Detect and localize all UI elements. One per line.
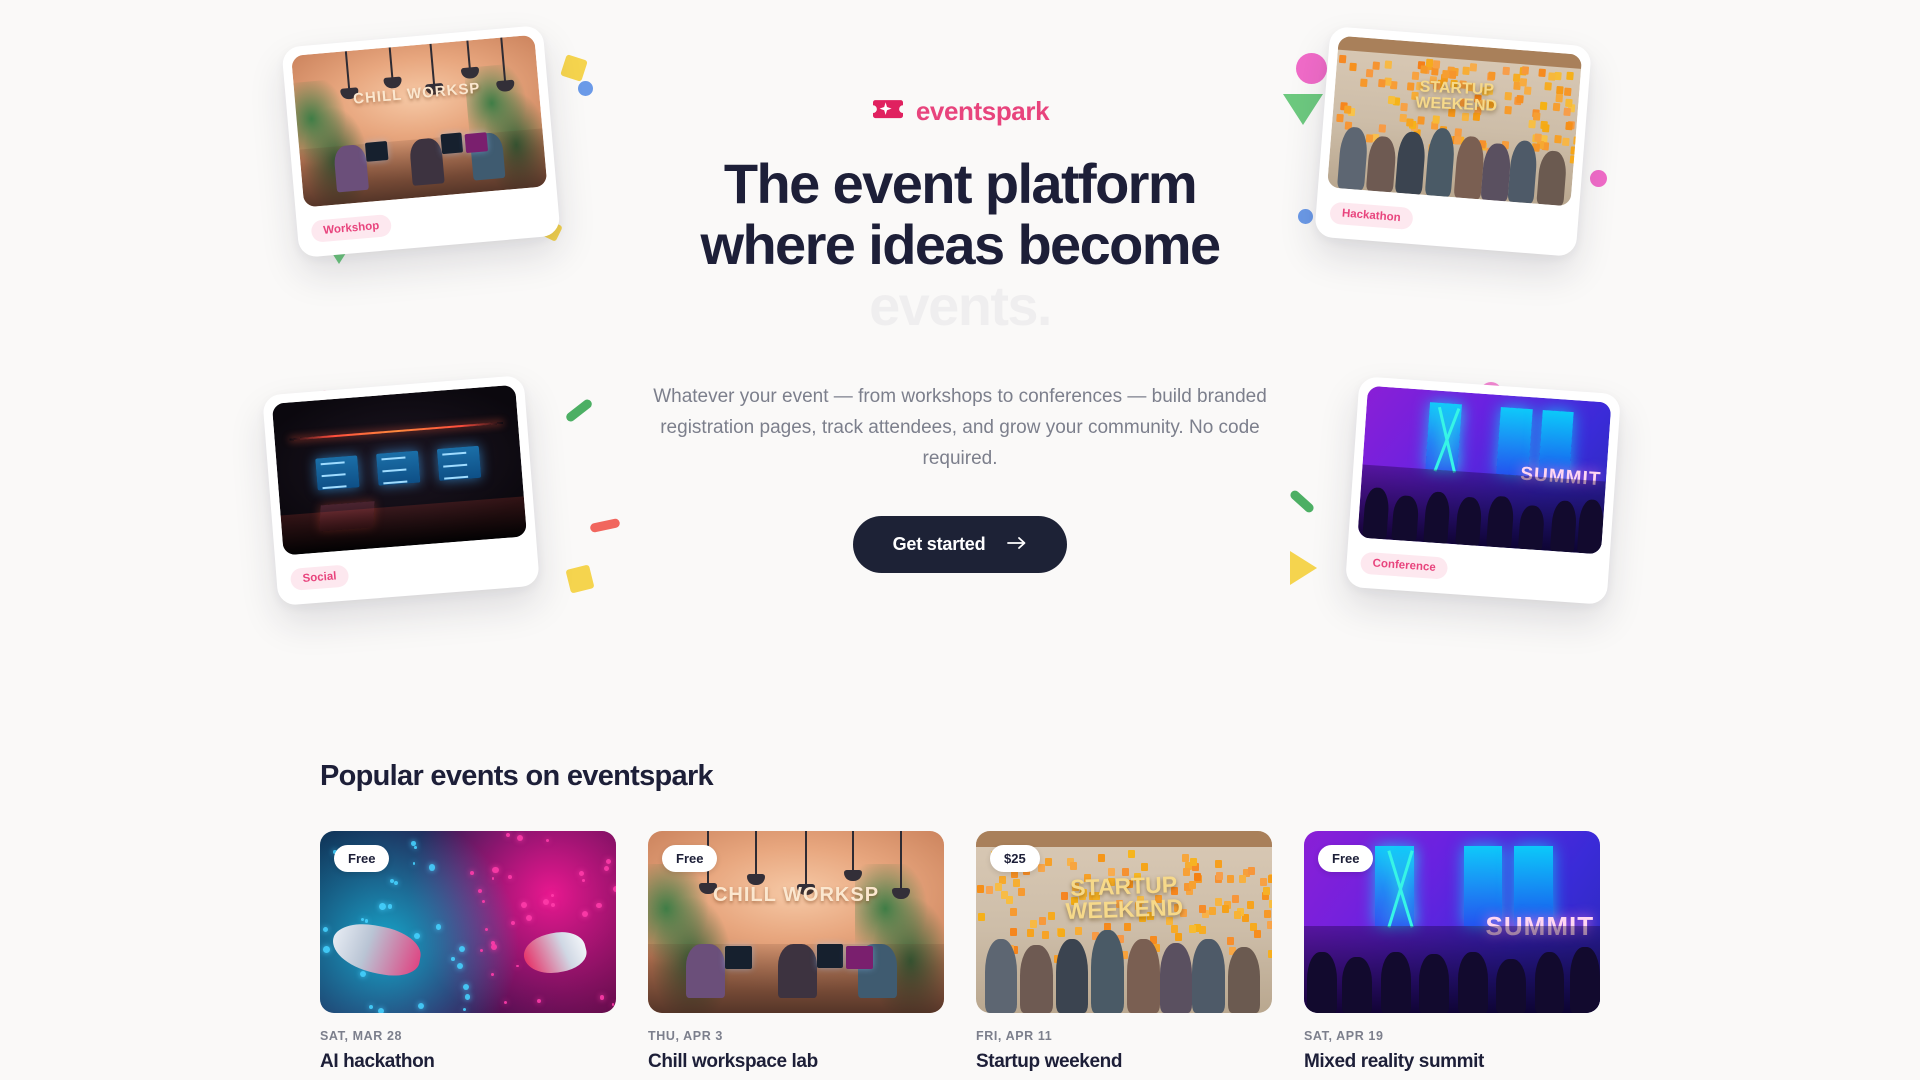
floating-card-tag-hackathon: Hackathon	[1329, 202, 1413, 230]
decor-square-yellow	[560, 54, 588, 82]
headline-line-1: The event platform	[610, 153, 1310, 214]
event-date: THU, APR 3	[648, 1029, 944, 1043]
event-card[interactable]: Free CHILL WORKSP	[648, 831, 944, 1073]
event-date: SAT, MAR 28	[320, 1029, 616, 1043]
event-title: Mixed reality summit	[1304, 1051, 1600, 1073]
get-started-label: Get started	[893, 534, 986, 555]
headline-line-2: where ideas become	[610, 214, 1310, 275]
event-thumbnail: Free SUMMIT	[1304, 831, 1600, 1013]
price-badge: Free	[1318, 845, 1373, 872]
get-started-button[interactable]: Get started	[853, 516, 1068, 573]
headline-line-3: events.	[610, 275, 1310, 336]
floating-card-social[interactable]: Social	[262, 375, 540, 606]
price-badge: Free	[662, 845, 717, 872]
event-date: SAT, APR 19	[1304, 1029, 1600, 1043]
event-thumbnail: Free CHILL WORKSP	[648, 831, 944, 1013]
event-card[interactable]: Free SAT, MAR 28 AI hackathon	[320, 831, 616, 1073]
photo-sign-text: CHILL WORKSP	[713, 884, 879, 907]
event-date: FRI, APR 11	[976, 1029, 1272, 1043]
floating-card-tag-conference: Conference	[1360, 552, 1449, 580]
floating-card-image-social	[272, 385, 527, 556]
hero-subheading: Whatever your event — from workshops to …	[610, 382, 1310, 474]
section-title: Popular events on eventspark	[320, 760, 1600, 793]
event-card[interactable]: $25 STARTUPWEEKEND	[976, 831, 1272, 1073]
events-grid: Free SAT, MAR 28 AI hackathon Free	[320, 831, 1600, 1073]
floating-card-tag-social: Social	[290, 564, 349, 590]
popular-events-section: Popular events on eventspark Free SAT, M…	[0, 760, 1920, 1073]
event-title: AI hackathon	[320, 1051, 616, 1073]
decor-square-yellow-3	[565, 564, 594, 593]
event-thumbnail: $25 STARTUPWEEKEND	[976, 831, 1272, 1013]
event-title: Startup weekend	[976, 1051, 1272, 1073]
floating-card-image-workshop: CHILL WORKSP	[291, 35, 547, 208]
brand-name: eventspark	[916, 96, 1049, 127]
hero-content: eventspark The event platform where idea…	[610, 96, 1310, 573]
floating-card-image-hackathon: STARTUPWEEKEND	[1327, 36, 1582, 207]
brand-logo[interactable]: eventspark	[610, 96, 1310, 127]
floating-card-workshop[interactable]: CHILL WORKSP Workshop	[281, 25, 560, 258]
decor-circle-pink	[1296, 53, 1327, 84]
arrow-right-icon	[1007, 534, 1027, 555]
floating-card-hackathon[interactable]: STARTUPWEEKEND Hackathon	[1314, 26, 1592, 257]
event-thumbnail: Free	[320, 831, 616, 1013]
ticket-icon	[871, 97, 905, 126]
hero-section: CHILL WORKSP Workshop STARTUPWEEKEND	[0, 0, 1920, 680]
event-title: Chill workspace lab	[648, 1051, 944, 1073]
price-badge: Free	[334, 845, 389, 872]
floating-card-tag-workshop: Workshop	[311, 214, 393, 243]
page-title: The event platform where ideas become ev…	[610, 153, 1310, 336]
floating-card-image-conference: SUMMIT	[1357, 386, 1611, 555]
floating-card-conference[interactable]: SUMMIT Conference	[1345, 376, 1621, 605]
decor-circle-blue	[578, 81, 593, 96]
event-card[interactable]: Free SUMMIT	[1304, 831, 1600, 1073]
decor-circle-pink-2	[1590, 170, 1607, 187]
decor-bar-green	[564, 398, 593, 424]
price-badge: $25	[990, 845, 1040, 872]
photo-sign-text: CHILL WORKSP	[352, 79, 481, 107]
